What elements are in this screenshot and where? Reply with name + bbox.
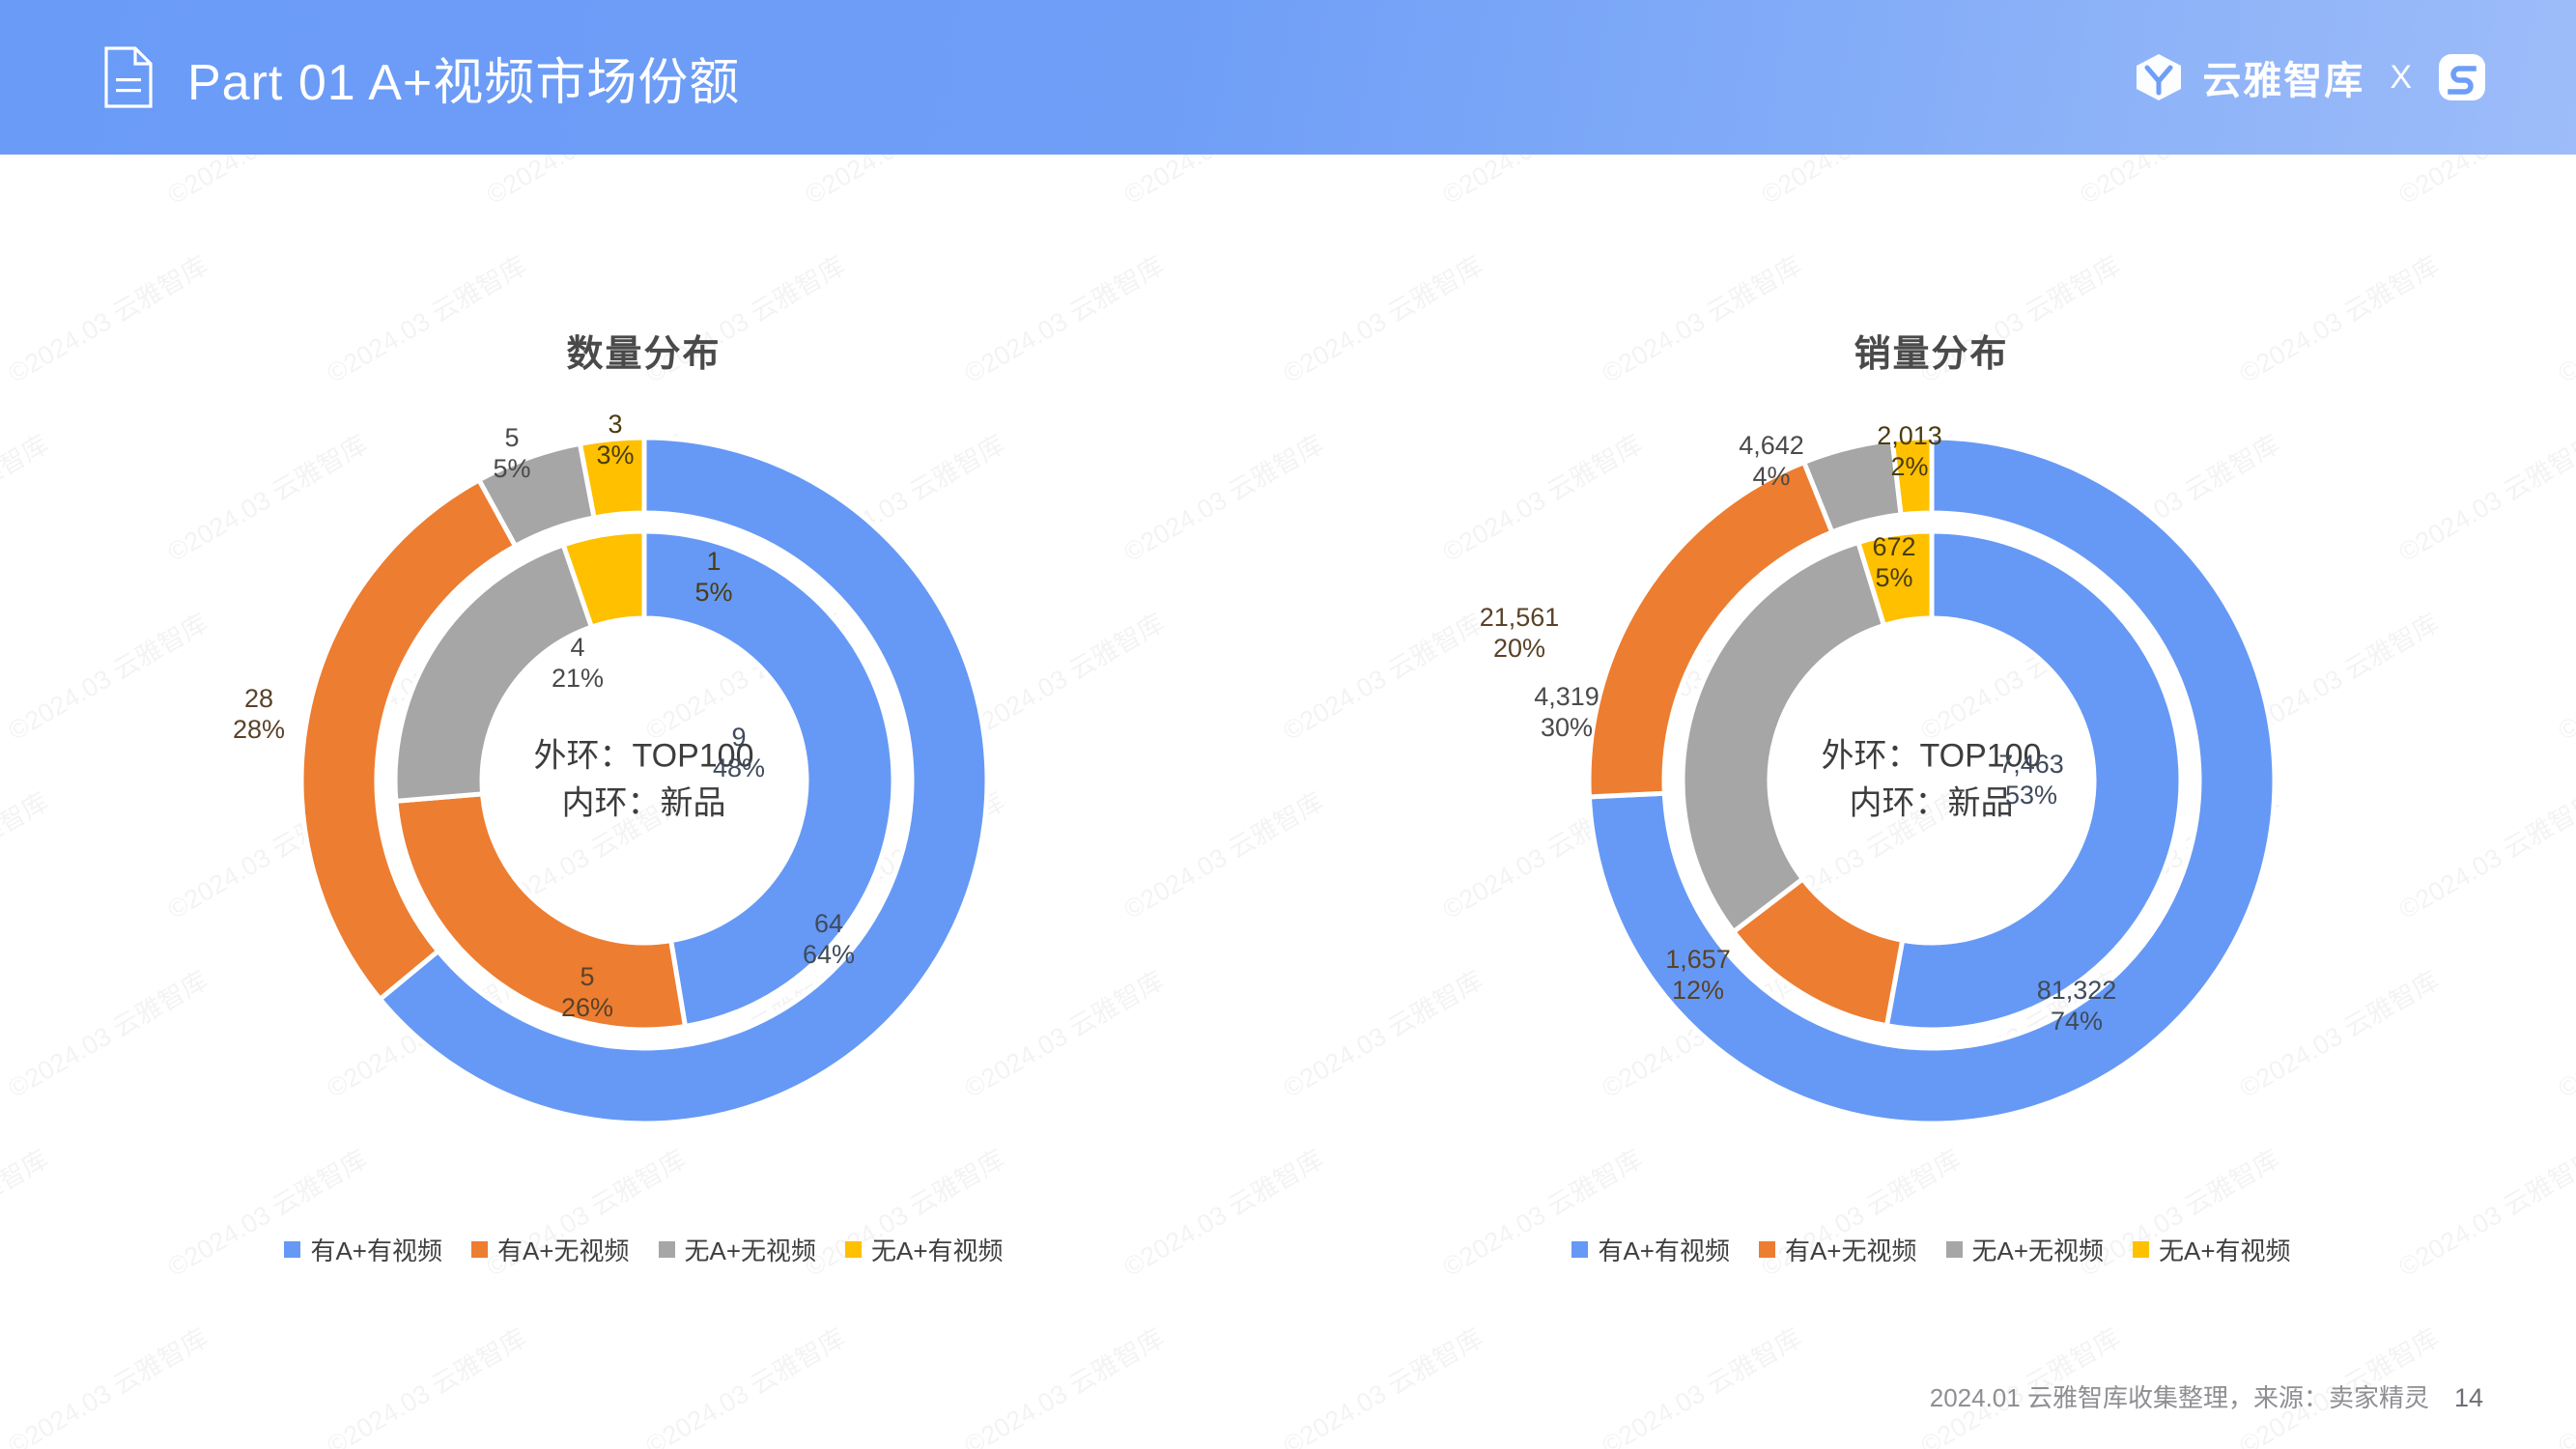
- yunya-logo-icon: [2135, 52, 2183, 102]
- legend-swatch-icon: [1946, 1241, 1963, 1258]
- label-inner-blue-q: 9 48%: [713, 723, 765, 784]
- page-title: Part 01 A+视频市场份额: [187, 42, 740, 114]
- legend-swatch-icon: [2133, 1241, 2149, 1258]
- label-inner-gray-q: 4 21%: [552, 633, 604, 695]
- legend-item-3[interactable]: 无A+有视频: [845, 1232, 1004, 1267]
- legend-swatch-icon: [659, 1241, 675, 1258]
- watermark-text: ©2024.03 云雅智库: [2550, 1318, 2576, 1449]
- legend-label: 无A+有视频: [2159, 1232, 2291, 1267]
- center-note-quantity: 外环：TOP100 内环：新品: [441, 733, 847, 829]
- legend-label: 有A+有视频: [1598, 1232, 1730, 1267]
- label-outer-orange-s: 21,561 20%: [1480, 603, 1560, 665]
- label-inner-yellow-q: 1 5%: [694, 547, 732, 609]
- legend-item-2[interactable]: 无A+无视频: [1946, 1232, 2105, 1267]
- legend-label: 无A+无视频: [685, 1232, 817, 1267]
- legend-quantity: 有A+有视频有A+无视频无A+无视频无A+有视频: [0, 1232, 1288, 1267]
- footer-source: 2024.01 云雅智库收集整理，来源：卖家精灵: [1930, 1378, 2429, 1414]
- legend-label: 有A+有视频: [310, 1232, 442, 1267]
- donut-wrap-quantity: 外环：TOP100 内环：新品 64 64% 28 28% 5 5% 3: [0, 394, 1288, 1244]
- slide-header: Part 01 A+视频市场份额 云雅智库 X: [0, 0, 2576, 155]
- legend-sales: 有A+有视频有A+无视频无A+无视频无A+有视频: [1288, 1232, 2575, 1267]
- legend-item-3[interactable]: 无A+有视频: [2133, 1232, 2291, 1267]
- watermark-text: ©2024.03 云雅智库: [956, 1318, 1170, 1449]
- watermark-text: ©2024.03 云雅智库: [637, 1318, 851, 1449]
- watermark-text: ©2024.03 云雅智库: [1594, 1318, 1807, 1449]
- legend-label: 无A+有视频: [871, 1232, 1004, 1267]
- brand-separator: X: [2390, 59, 2412, 97]
- legend-swatch-icon: [845, 1241, 862, 1258]
- legend-swatch-icon: [471, 1241, 488, 1258]
- legend-label: 有A+无视频: [1785, 1232, 1917, 1267]
- label-outer-gray-s: 4,642 4%: [1739, 431, 1804, 493]
- footer: 2024.01 云雅智库收集整理，来源：卖家精灵 14: [1930, 1378, 2483, 1414]
- charts-container: 数量分布 外环：TOP100 内环：新品 64 64% 28 28% 5: [0, 155, 2576, 1294]
- legend-label: 有A+无视频: [497, 1232, 630, 1267]
- label-outer-gray-q: 5 5%: [493, 423, 530, 485]
- center-note-line1: 外环：TOP100: [441, 733, 847, 781]
- legend-swatch-icon: [1759, 1241, 1775, 1258]
- center-note-line2: 内环：新品: [441, 781, 847, 828]
- label-outer-orange-q: 28 28%: [233, 684, 285, 746]
- brand-left-name: 云雅智库: [2202, 49, 2364, 105]
- legend-item-2[interactable]: 无A+无视频: [659, 1232, 817, 1267]
- label-inner-blue-s: 7,463 53%: [1998, 750, 2064, 811]
- footer-page-number: 14: [2454, 1383, 2483, 1413]
- legend-item-1[interactable]: 有A+无视频: [1759, 1232, 1917, 1267]
- label-inner-yellow-s: 672 5%: [1872, 532, 1915, 594]
- maijia-logo-icon: [2437, 52, 2487, 102]
- legend-item-0[interactable]: 有A+有视频: [1571, 1232, 1730, 1267]
- legend-item-1[interactable]: 有A+无视频: [471, 1232, 630, 1267]
- slide-page: ©2024.03 云雅智库©2024.03 云雅智库©2024.03 云雅智库©…: [0, 0, 2576, 1449]
- watermark-text: ©2024.03 云雅智库: [319, 1318, 532, 1449]
- center-note-sales: 外环：TOP100 内环：新品: [1729, 733, 2135, 829]
- label-inner-gray-s: 4,319 30%: [1534, 682, 1599, 744]
- label-inner-orange-q: 5 26%: [561, 962, 613, 1024]
- center-note-line2-sales: 内环：新品: [1729, 781, 2135, 828]
- center-note-line1-sales: 外环：TOP100: [1729, 733, 2135, 781]
- chart-title-quantity: 数量分布: [0, 324, 1288, 377]
- legend-swatch-icon: [1571, 1241, 1588, 1258]
- label-outer-blue-q: 64 64%: [803, 909, 855, 971]
- document-icon: [102, 45, 155, 109]
- watermark-text: ©2024.03 云雅智库: [1275, 1318, 1488, 1449]
- donut-wrap-sales: 外环：TOP100 内环：新品 81,322 74% 21,561 20% 4,…: [1288, 394, 2575, 1244]
- label-outer-yellow-s: 2,013 2%: [1877, 421, 1942, 483]
- legend-label: 无A+无视频: [1972, 1232, 2105, 1267]
- legend-swatch-icon: [284, 1241, 300, 1258]
- label-inner-orange-s: 1,657 12%: [1665, 945, 1731, 1007]
- chart-title-sales: 销量分布: [1288, 324, 2575, 377]
- label-outer-blue-s: 81,322 74%: [2037, 976, 2117, 1037]
- chart-quantity-distribution: 数量分布 外环：TOP100 内环：新品 64 64% 28 28% 5: [0, 155, 1288, 1294]
- chart-sales-distribution: 销量分布 外环：TOP100 内环：新品 81,322 74% 21,561 2…: [1288, 155, 2575, 1294]
- brand-bar: 云雅智库 X: [2135, 49, 2487, 105]
- watermark-text: ©2024.03 云雅智库: [0, 1318, 213, 1449]
- legend-item-0[interactable]: 有A+有视频: [284, 1232, 442, 1267]
- label-outer-yellow-q: 3 3%: [596, 410, 634, 471]
